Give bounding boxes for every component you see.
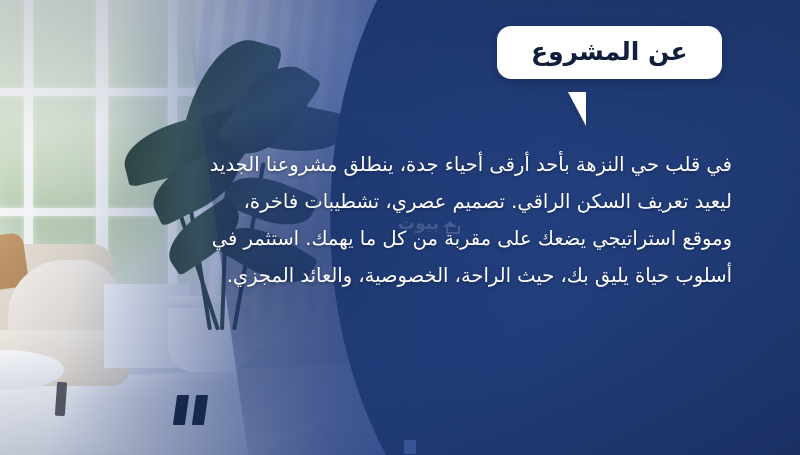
copy-line: في قلب حي النزهة بأحد أرقى أحياء جدة، ين… — [172, 146, 732, 183]
quote-bar — [192, 395, 208, 425]
quotation-mark-icon — [175, 395, 206, 425]
speech-bubble-tail-icon — [568, 92, 586, 126]
about-project-badge[interactable]: عن المشروع — [497, 26, 722, 79]
body-copy: في قلب حي النزهة بأحد أرقى أحياء جدة، ين… — [172, 146, 732, 294]
copy-line: وموقع استراتيجي يضعك على مقربة من كل ما … — [172, 220, 732, 257]
watermark-mark-bottom — [404, 440, 416, 454]
promo-banner: بيوت عن المشروع في قلب حي النزهة بأحد أر… — [0, 0, 800, 455]
copy-line: أسلوب حياة يليق بك، حيث الراحة، الخصوصية… — [172, 257, 732, 294]
quote-bar — [173, 395, 189, 425]
badge-label: عن المشروع — [531, 39, 688, 64]
copy-line: ليعيد تعريف السكن الراقي. تصميم عصري، تش… — [172, 183, 732, 220]
